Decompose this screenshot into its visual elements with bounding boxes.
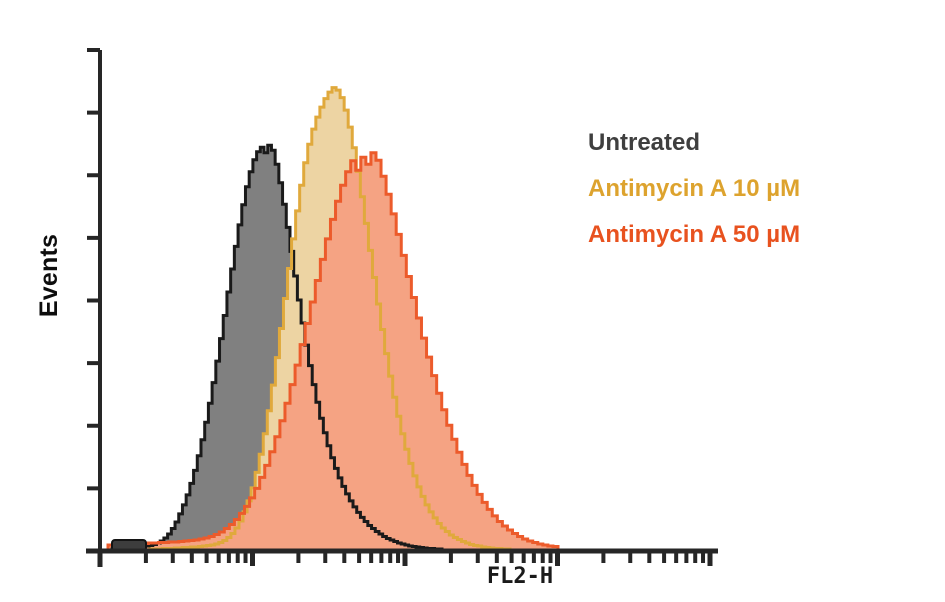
legend-label-antimycin-10um: Antimycin A 10 µM <box>588 175 800 202</box>
legend-label-antimycin-50um: Antimycin A 50 µM <box>588 221 800 248</box>
chart-root: Events FL2-H Untreated Antimycin A 10 µM… <box>0 0 945 602</box>
histogram-svg <box>0 0 945 602</box>
legend-item-antimycin-50um: Antimycin A 50 µM <box>588 223 918 247</box>
legend-item-antimycin-10um: Antimycin A 10 µM <box>588 177 918 201</box>
legend-label-untreated: Untreated <box>588 129 700 156</box>
legend-item-untreated: Untreated <box>588 131 918 155</box>
x-axis-title: FL2-H <box>400 564 640 589</box>
series-group <box>108 88 558 551</box>
y-axis-title: Events <box>30 175 70 375</box>
y-axis-title-text: Events <box>36 233 65 316</box>
x-axis-title-text: FL2-H <box>487 564 553 589</box>
legend: Untreated Antimycin A 10 µM Antimycin A … <box>588 131 918 247</box>
histogram-plot <box>0 0 945 602</box>
